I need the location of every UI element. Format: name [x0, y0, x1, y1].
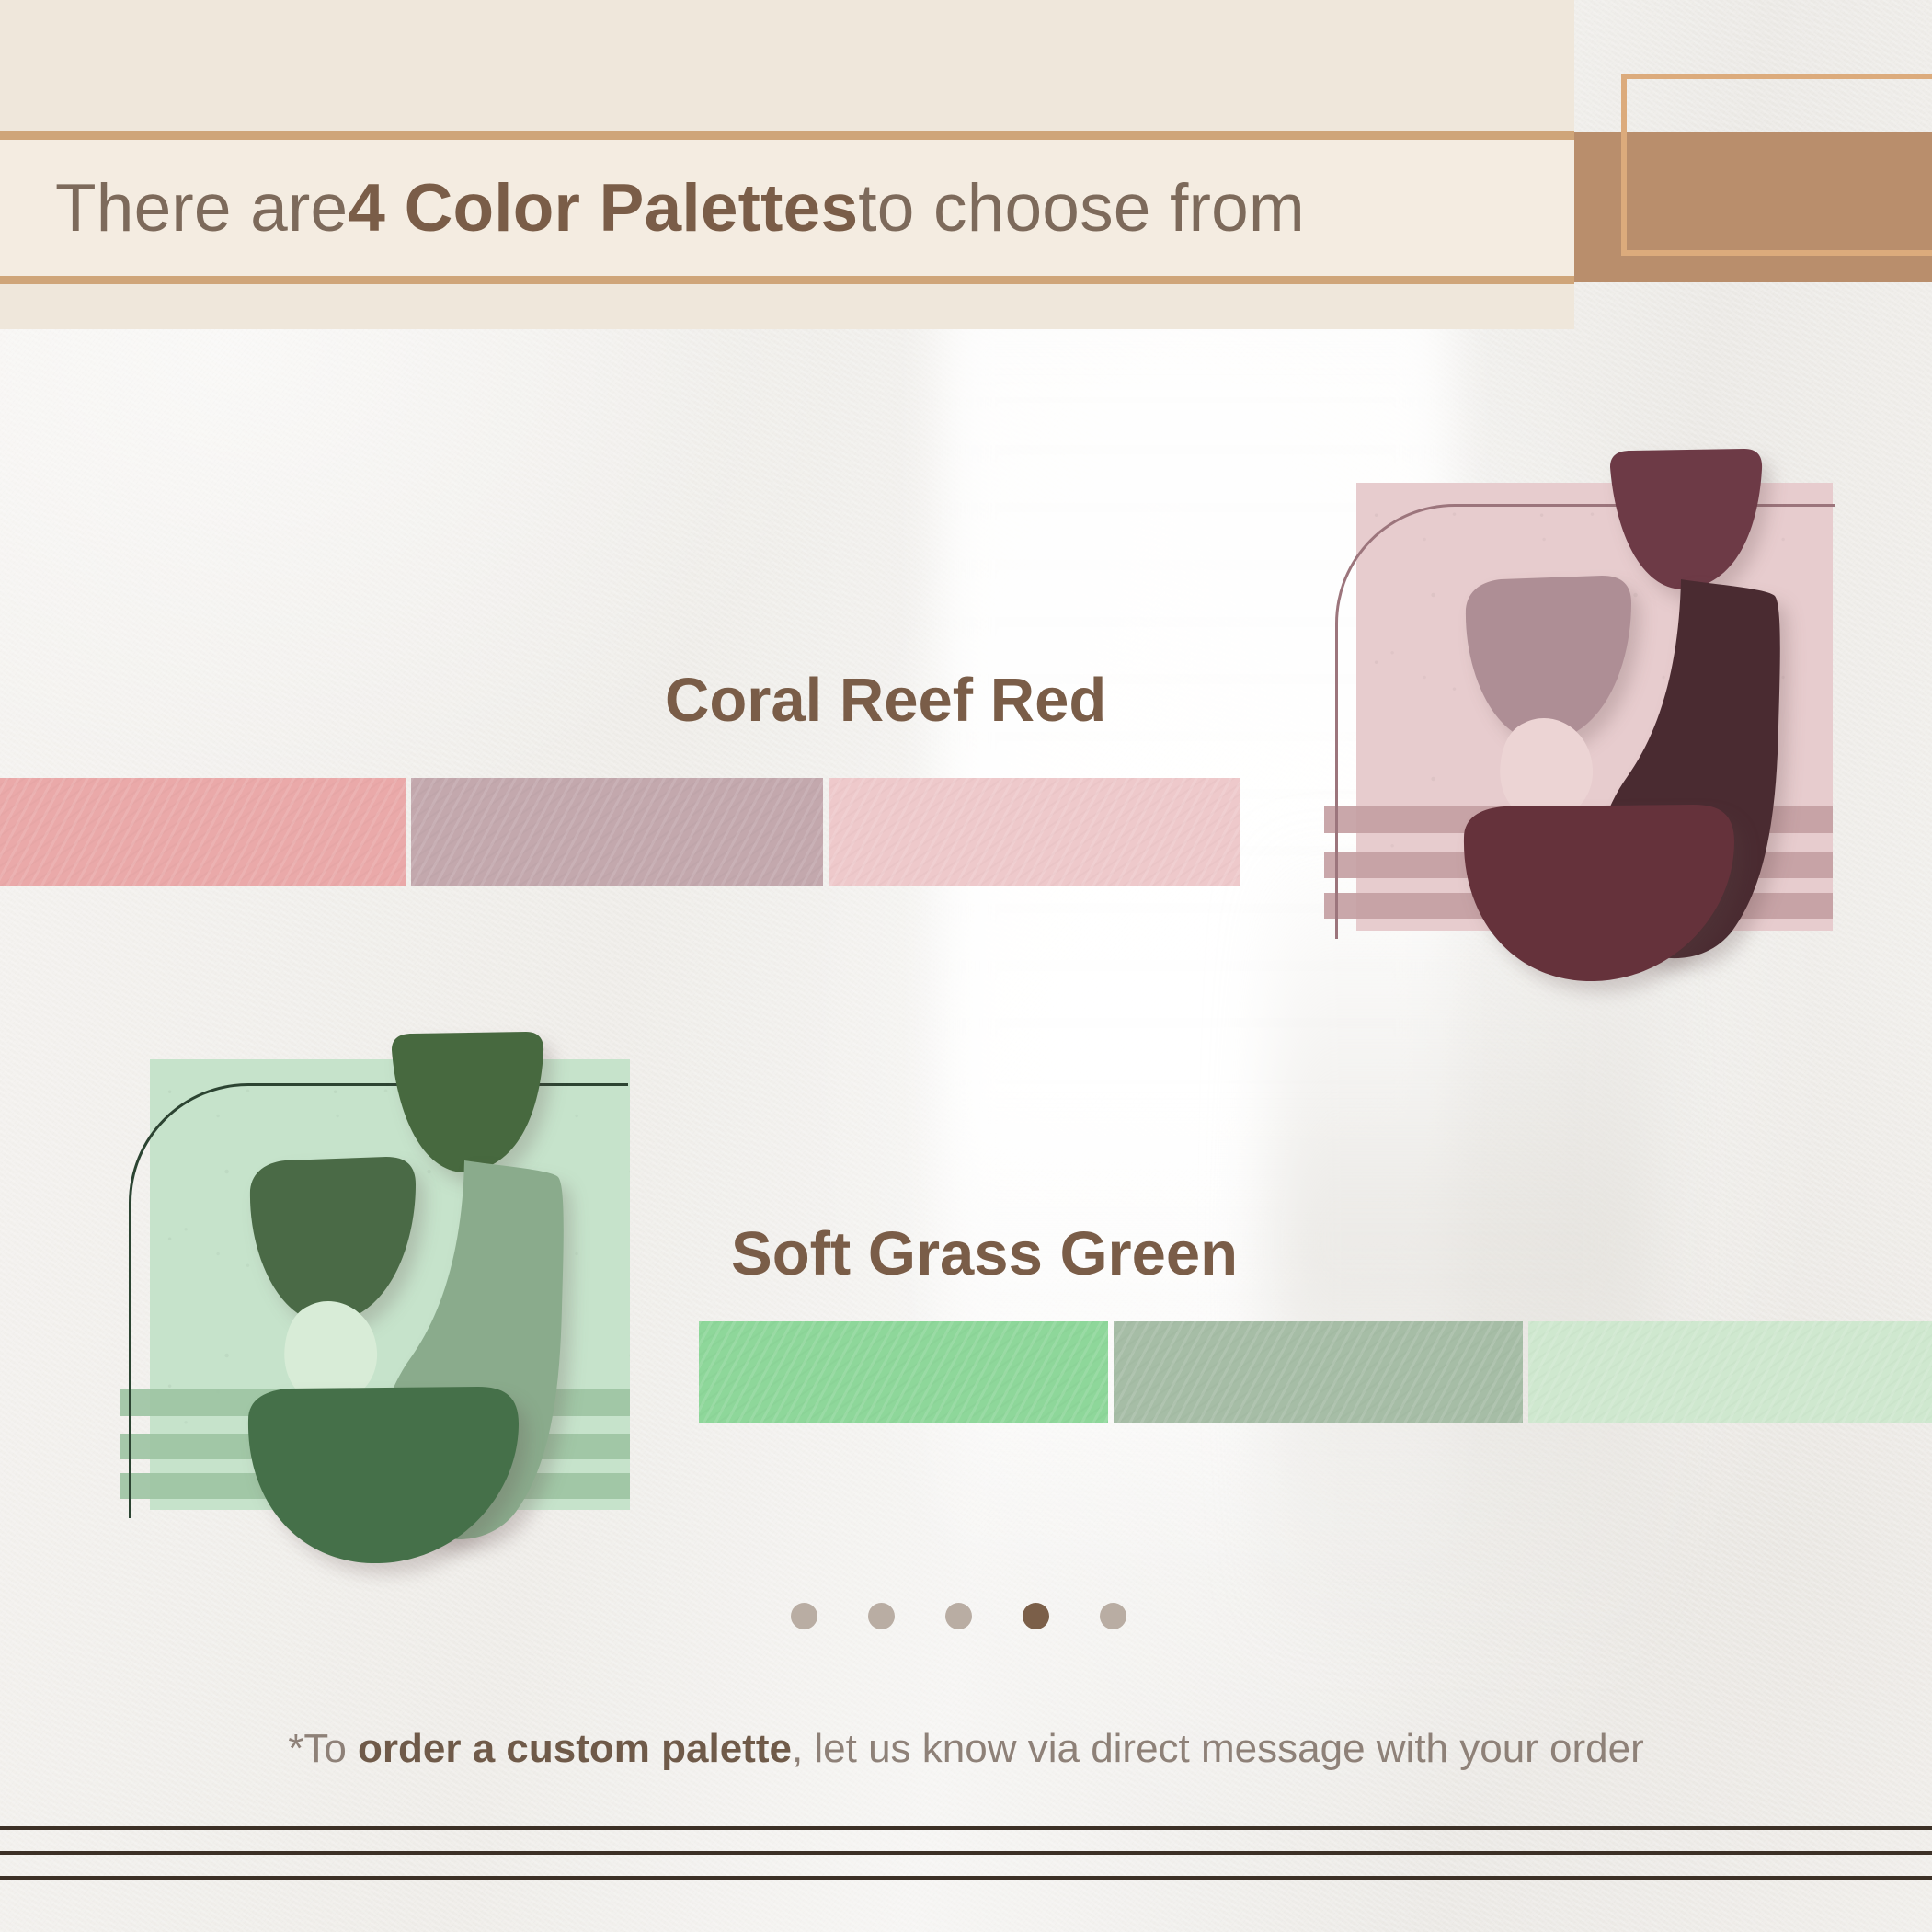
swatch-bar-coral-reef-red	[0, 778, 1240, 886]
pager-dot-4-active[interactable]	[1023, 1603, 1049, 1629]
swatch-coral-2[interactable]	[411, 778, 822, 886]
swatch-green-3[interactable]	[1528, 1321, 1932, 1423]
title-part-strong: 4 Color Palettes	[348, 170, 858, 246]
palette-title-soft-grass-green: Soft Grass Green	[731, 1218, 1238, 1289]
illus-green-shape-bowl	[228, 1387, 522, 1566]
pager-dot-2[interactable]	[868, 1603, 895, 1629]
illus-red-shape-bowl	[1444, 805, 1738, 984]
bottom-rule-1	[0, 1826, 1932, 1830]
title-part-before: There are	[55, 170, 348, 246]
header-outline-box	[1621, 74, 1932, 256]
bottom-rule-3	[0, 1876, 1932, 1880]
pager-dot-1[interactable]	[791, 1603, 817, 1629]
footer-note: *To order a custom palette, let us know …	[0, 1726, 1932, 1772]
pager-dots	[791, 1603, 1126, 1629]
swatch-green-1[interactable]	[699, 1321, 1108, 1423]
page-title: There are 4 Color Palettes to choose fro…	[55, 131, 1526, 284]
swatch-bar-soft-grass-green	[699, 1321, 1932, 1423]
slide-canvas: There are 4 Color Palettes to choose fro…	[0, 0, 1932, 1932]
swatch-green-2[interactable]	[1114, 1321, 1523, 1423]
bottom-rule-2	[0, 1851, 1932, 1855]
illustration-coral-reef-red	[1315, 460, 1867, 1030]
pager-dot-3[interactable]	[945, 1603, 972, 1629]
pager-dot-5[interactable]	[1100, 1603, 1126, 1629]
swatch-coral-3[interactable]	[829, 778, 1240, 886]
swatch-coral-1[interactable]	[0, 778, 406, 886]
palette-title-coral-reef-red: Coral Reef Red	[665, 665, 1106, 736]
title-part-after: to choose from	[858, 170, 1305, 246]
footer-part-strong: order a custom palette	[358, 1726, 792, 1771]
illustration-soft-grass-green	[92, 1039, 644, 1609]
footer-part-before: *To	[288, 1726, 358, 1771]
header-beige-block-top	[0, 0, 1574, 131]
header-beige-block-bottom	[0, 284, 1574, 329]
footer-part-after: , let us know via direct message with yo…	[792, 1726, 1644, 1771]
